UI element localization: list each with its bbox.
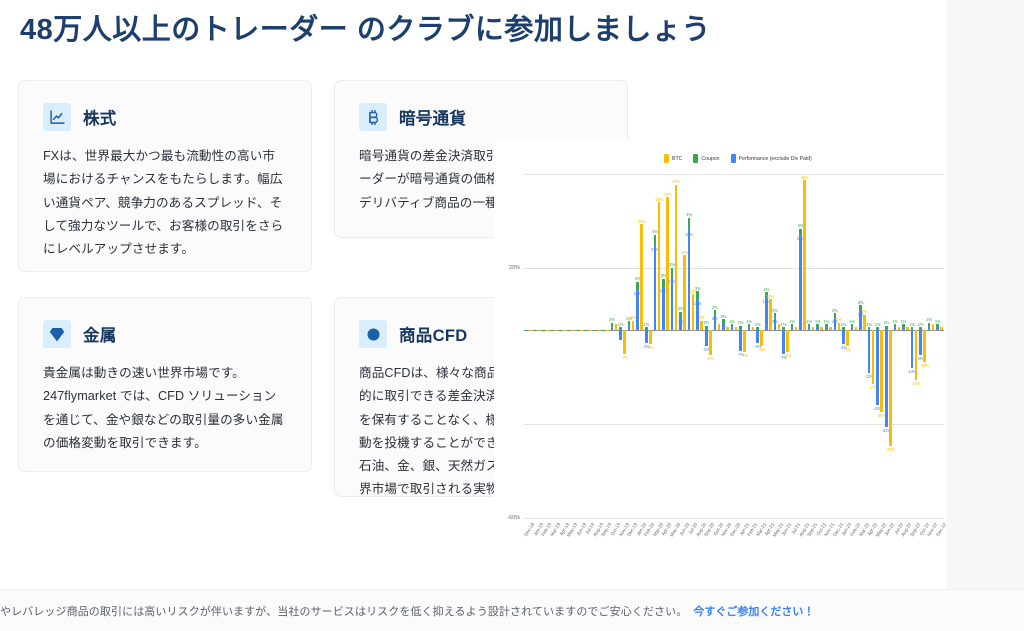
chart-bar — [902, 327, 905, 330]
chart-bar — [671, 277, 674, 330]
chart-bar — [619, 327, 622, 330]
legend-item[interactable]: BTC — [664, 154, 682, 163]
bar-value-label: -5% — [844, 347, 851, 352]
bar-value-label: 43% — [663, 192, 671, 197]
chart-bar — [722, 319, 725, 324]
chart-bar — [894, 327, 897, 330]
chart-bar — [679, 312, 682, 318]
bar-value-label: -4% — [647, 345, 654, 350]
page-root: 48万人以上のトレーダー のクラブに参加しましょう 株式 FXは、世界最大かつ最… — [0, 0, 1024, 631]
bar-value-label: 1% — [823, 319, 829, 324]
bar-value-label: 1% — [849, 319, 855, 324]
chart-bar — [662, 287, 665, 331]
chart-bar — [774, 313, 777, 318]
chart-bar — [649, 330, 652, 344]
chart-bar — [654, 235, 657, 246]
right-gutter — [946, 0, 1024, 589]
chart-bar — [808, 324, 811, 327]
legend-label: Performance (exclude Div Paid) — [739, 156, 812, 162]
chart-bar — [842, 330, 845, 344]
bar-value-label: 2% — [609, 317, 615, 322]
bar-value-label: 1% — [892, 319, 898, 324]
chart-bar — [786, 330, 789, 352]
chart-bar — [718, 324, 721, 330]
chart-bar — [919, 327, 922, 330]
bar-value-label: 1% — [806, 319, 812, 324]
card-header: 金属 — [19, 298, 311, 348]
chart-bar — [911, 330, 914, 368]
bar-value-label: 1% — [755, 322, 761, 327]
bar-value-label: 2% — [721, 314, 727, 319]
chart-bar — [640, 224, 643, 330]
bar-value-label: 1% — [875, 322, 881, 327]
bar-value-label: 4% — [652, 229, 658, 234]
chart-bar — [705, 326, 708, 331]
bar-value-label: 2% — [703, 320, 709, 325]
chart-bar — [705, 330, 708, 346]
chart-bar — [799, 229, 802, 235]
chart-bar — [898, 327, 901, 330]
card-header: 株式 — [19, 81, 311, 131]
chart-bar — [662, 279, 665, 287]
chart-bar — [876, 330, 879, 405]
chart-bar — [885, 330, 888, 427]
chart-bar — [731, 324, 734, 327]
bar-value-label: -16% — [911, 381, 920, 386]
chart-bar — [803, 180, 806, 330]
footer-bar: やレバレッジ商品の取引には高いリスクが伴いますが、当社のサービスはリスクを低く抑… — [0, 589, 1024, 631]
chart-bar — [816, 327, 819, 330]
chart-bar — [876, 327, 879, 330]
bitcoin-icon — [359, 103, 387, 131]
chart-bar — [688, 218, 691, 231]
chart-bar — [825, 327, 828, 330]
bar-value-label: -5% — [758, 347, 765, 352]
chart-bar — [714, 310, 717, 315]
bar-value-label: 1% — [729, 319, 735, 324]
chart-bar — [632, 321, 635, 330]
bar-value-label: 1% — [841, 322, 847, 327]
performance-chart: BTCCouponPerformance (exclude Div Paid) … — [494, 140, 946, 572]
bar-value-label: 2% — [712, 305, 718, 310]
bar-value-label: 1% — [643, 322, 649, 327]
chart-bar — [769, 299, 772, 330]
y-axis-tick: -60% — [507, 515, 520, 521]
bar-value-label: 1% — [781, 322, 787, 327]
chart-bar — [683, 255, 686, 330]
chart-bar — [902, 324, 905, 327]
legend-label: BTC — [672, 156, 682, 162]
footer-disclaimer: やレバレッジ商品の取引には高いリスクが伴いますが、当社のサービスはリスクを低く抑… — [0, 603, 687, 619]
chart-bar — [825, 324, 828, 327]
bar-value-label: 2% — [738, 320, 744, 325]
chart-plot-area: 20%-60%2%1%-7%2%3%13%3%34%-4%1%-4%27%4%4… — [524, 174, 944, 518]
bar-value-label: 1% — [815, 319, 821, 324]
bar-value-label: 2% — [883, 320, 889, 325]
chart-bar — [816, 324, 819, 327]
chart-bar — [782, 327, 785, 330]
gridline — [524, 424, 944, 425]
bar-value-label: -7% — [784, 353, 791, 358]
card-header: 暗号通貨 — [335, 81, 627, 131]
chart-bar — [820, 327, 823, 330]
bar-value-label: 5% — [712, 316, 718, 321]
chart-bar — [654, 246, 657, 330]
legend-item[interactable]: Coupon — [693, 154, 719, 163]
legend-swatch — [731, 154, 736, 163]
chart-bar — [623, 330, 626, 353]
chart-bar — [894, 324, 897, 327]
chart-bar — [923, 330, 926, 361]
chart-bar — [928, 323, 931, 328]
page-title: 48万人以上のトレーダー のクラブに参加しましょう — [20, 12, 820, 48]
chart-bar — [658, 202, 661, 330]
chart-bar — [619, 330, 622, 339]
chart-bar — [872, 330, 875, 383]
chart-bar — [739, 330, 742, 351]
bar-value-label: 1% — [789, 319, 795, 324]
bar-value-label: 34% — [638, 219, 646, 224]
gridline — [524, 268, 944, 269]
card-title: 商品CFD — [399, 322, 467, 346]
chart-bar — [722, 324, 725, 330]
chart-bar — [889, 330, 892, 446]
chart-bar — [645, 330, 648, 343]
chart-bar — [851, 324, 854, 327]
chart-bar — [936, 324, 939, 327]
gridline — [524, 174, 944, 175]
chart-bar — [842, 327, 845, 330]
bar-value-label: -10% — [920, 363, 929, 368]
bar-value-label: -37% — [886, 447, 895, 452]
chart-bar — [936, 327, 939, 330]
card-body: 貴金属は動きの速い世界市場です。247flymarket では、CFD ソリュー… — [19, 348, 311, 455]
chart-bar — [915, 330, 918, 380]
chart-bar — [709, 330, 712, 355]
join-now-link[interactable]: 今すぐご参加ください！ — [693, 603, 814, 619]
bar-value-label: 4% — [772, 319, 778, 324]
chart-bar — [906, 327, 909, 330]
chart-legend: BTCCouponPerformance (exclude Div Paid) — [664, 154, 812, 163]
bar-value-label: 41% — [655, 197, 663, 202]
chart-bar — [932, 324, 935, 330]
y-axis-tick: 20% — [509, 265, 520, 271]
bar-value-label: 1% — [918, 322, 924, 327]
bar-value-label: 48% — [801, 175, 809, 180]
chart-bar — [743, 330, 746, 352]
bar-value-label: 1% — [901, 319, 907, 324]
chart-bar — [688, 230, 691, 330]
bar-value-label: 1% — [618, 322, 624, 327]
chart-x-axis: Dec-18Jan-19Feb-19Mar-19Apr-19May-19Jun-… — [524, 522, 944, 568]
card-title: 金属 — [83, 322, 117, 346]
chart-bar — [791, 324, 794, 327]
legend-swatch — [664, 154, 669, 163]
bar-value-label: 1% — [935, 319, 941, 324]
bar-value-label: 4% — [686, 212, 692, 217]
bar-value-label: 47% — [672, 179, 680, 184]
legend-item[interactable]: Performance (exclude Div Paid) — [731, 154, 812, 163]
bar-value-label: 2% — [763, 287, 769, 292]
bar-value-label: -7% — [741, 353, 748, 358]
bar-value-label: 5% — [862, 309, 868, 314]
chart-bar — [799, 235, 802, 330]
card-stocks[interactable]: 株式 FXは、世界最大かつ最も流動性の高い市場におけるチャンスをもたらします。幅… — [18, 80, 312, 272]
chart-bar — [696, 291, 699, 299]
diamond-icon — [43, 320, 71, 348]
chart-bar — [748, 324, 751, 327]
bar-value-label: 10% — [766, 294, 774, 299]
bar-value-label: 32% — [685, 232, 693, 237]
card-body: FXは、世界最大かつ最も流動性の高い市場におけるチャンスをもたらします。幅広い通… — [19, 131, 311, 261]
chart-bar — [919, 330, 922, 355]
circle-icon — [359, 320, 387, 348]
chart-bar — [726, 327, 729, 330]
bar-value-label: 3% — [630, 315, 636, 320]
line-chart-icon — [43, 103, 71, 131]
bar-value-label: 2% — [926, 317, 932, 322]
bar-value-label: 10% — [694, 301, 702, 306]
bar-value-label: -8% — [707, 356, 714, 361]
chart-bar — [739, 326, 742, 331]
legend-label: Coupon — [701, 156, 719, 162]
gridline — [524, 518, 944, 519]
legend-swatch — [693, 154, 698, 163]
bar-value-label: 1% — [746, 319, 752, 324]
chart-bar — [636, 282, 639, 290]
chart-bar — [846, 330, 849, 346]
bar-value-label: 1% — [909, 322, 915, 327]
chart-bar — [782, 330, 785, 353]
bar-value-label: 2% — [832, 308, 838, 313]
chart-bar — [628, 321, 631, 326]
chart-bar — [868, 330, 871, 372]
bar-value-label: -7% — [621, 355, 628, 360]
card-metals[interactable]: 金属 貴金属は動きの速い世界市場です。247flymarket では、CFD ソ… — [18, 297, 312, 472]
chart-bar — [829, 327, 832, 330]
chart-bar — [760, 330, 763, 346]
chart-bar — [756, 327, 759, 330]
card-title: 暗号通貨 — [399, 105, 466, 129]
bar-value-label: 2% — [772, 308, 778, 313]
chart-bar — [756, 330, 759, 343]
chart-bar — [885, 326, 888, 331]
chart-bar — [671, 268, 674, 277]
chart-bar — [645, 327, 648, 330]
chart-bar — [611, 323, 614, 328]
bar-value-label: 2% — [858, 300, 864, 305]
bar-value-label: 3% — [695, 286, 701, 291]
chart-bar — [940, 327, 943, 330]
chart-bar — [880, 330, 883, 411]
bar-value-label: 1% — [866, 322, 872, 327]
card-title: 株式 — [83, 105, 117, 129]
